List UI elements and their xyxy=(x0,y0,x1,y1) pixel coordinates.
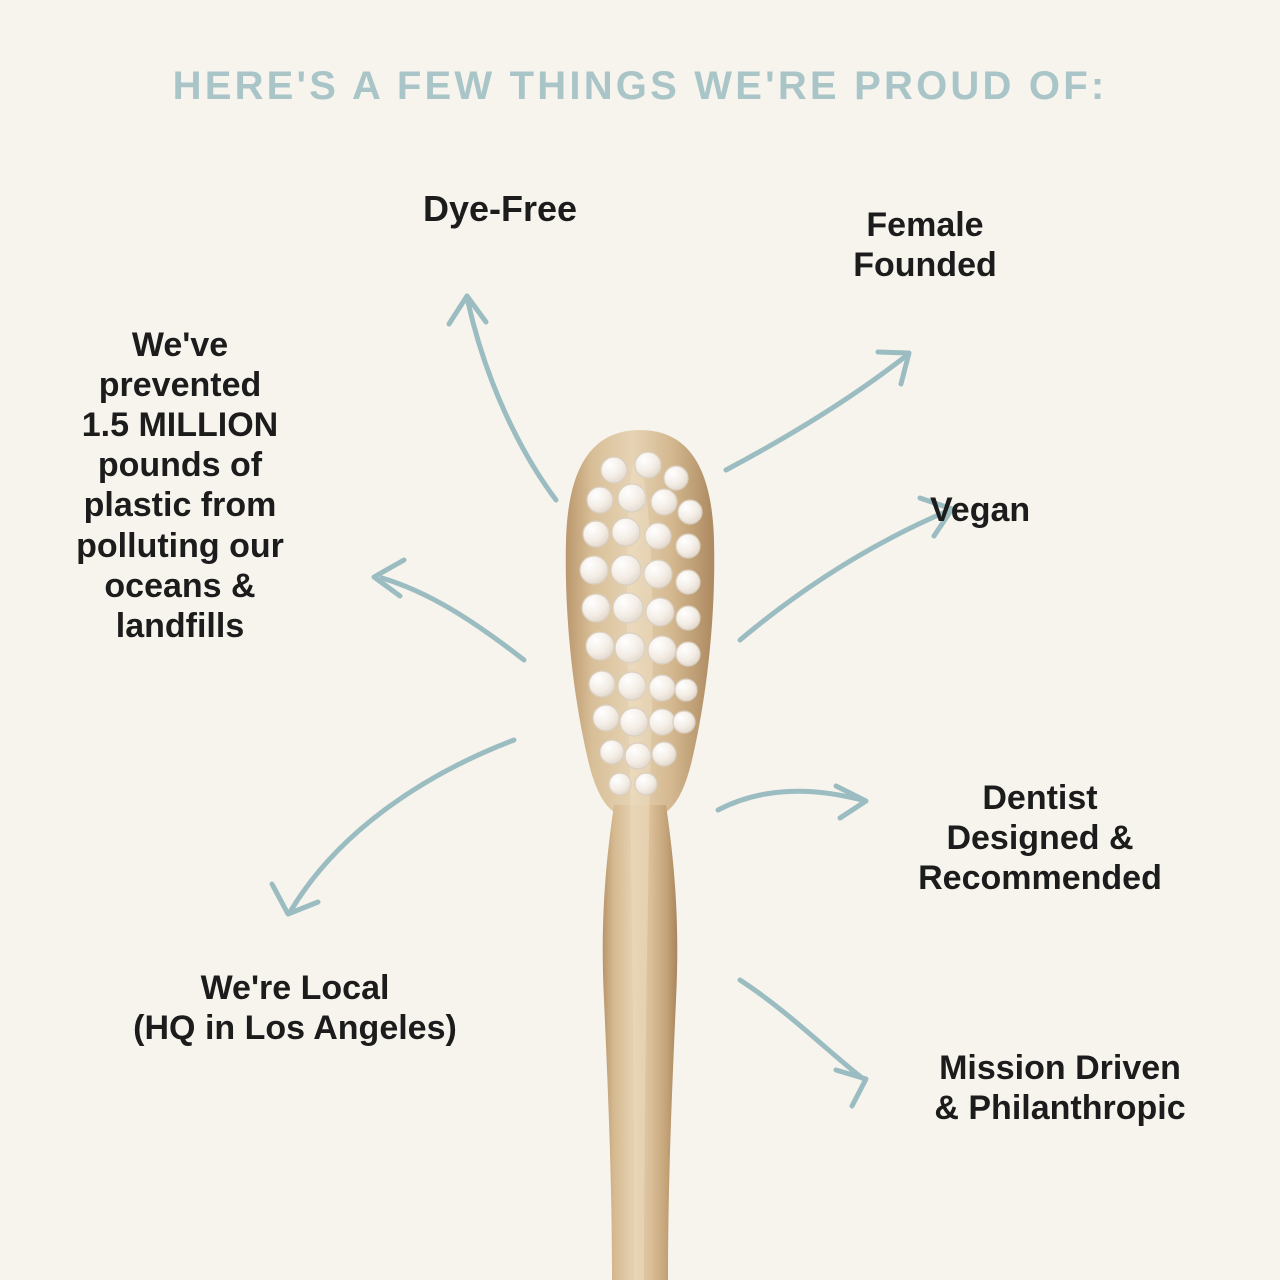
label-vegan: Vegan xyxy=(930,490,1190,530)
label-line: Vegan xyxy=(930,490,1190,530)
label-were-local: We're Local (HQ in Los Angeles) xyxy=(60,968,530,1048)
label-line: & Philanthropic xyxy=(860,1088,1260,1128)
label-line: Founded xyxy=(760,245,1090,285)
label-line: Dye-Free xyxy=(330,188,670,230)
label-line: polluting our xyxy=(20,526,340,566)
label-line: oceans & xyxy=(20,566,340,606)
label-line: (HQ in Los Angeles) xyxy=(60,1008,530,1048)
label-line: prevented xyxy=(20,365,340,405)
label-line: 1.5 MILLION xyxy=(20,405,340,445)
proud-of-infographic: Here's a few things we're proud of: xyxy=(0,0,1280,1280)
label-line: pounds of xyxy=(20,445,340,485)
label-line: landfills xyxy=(20,606,340,646)
label-line: plastic from xyxy=(20,485,340,525)
label-line: Mission Driven xyxy=(860,1048,1260,1088)
label-line: Dentist xyxy=(840,778,1240,818)
label-line: Female xyxy=(760,205,1090,245)
label-line: We've xyxy=(20,325,340,365)
label-plastic-prevented: We've prevented 1.5 MILLION pounds of pl… xyxy=(20,325,340,646)
label-line: We're Local xyxy=(60,968,530,1008)
label-dentist-designed: Dentist Designed & Recommended xyxy=(840,778,1240,898)
label-female-founded: Female Founded xyxy=(760,205,1090,285)
label-mission-driven: Mission Driven & Philanthropic xyxy=(860,1048,1260,1128)
label-line: Designed & xyxy=(840,818,1240,858)
label-line: Recommended xyxy=(840,858,1240,898)
label-dye-free: Dye-Free xyxy=(330,188,670,230)
